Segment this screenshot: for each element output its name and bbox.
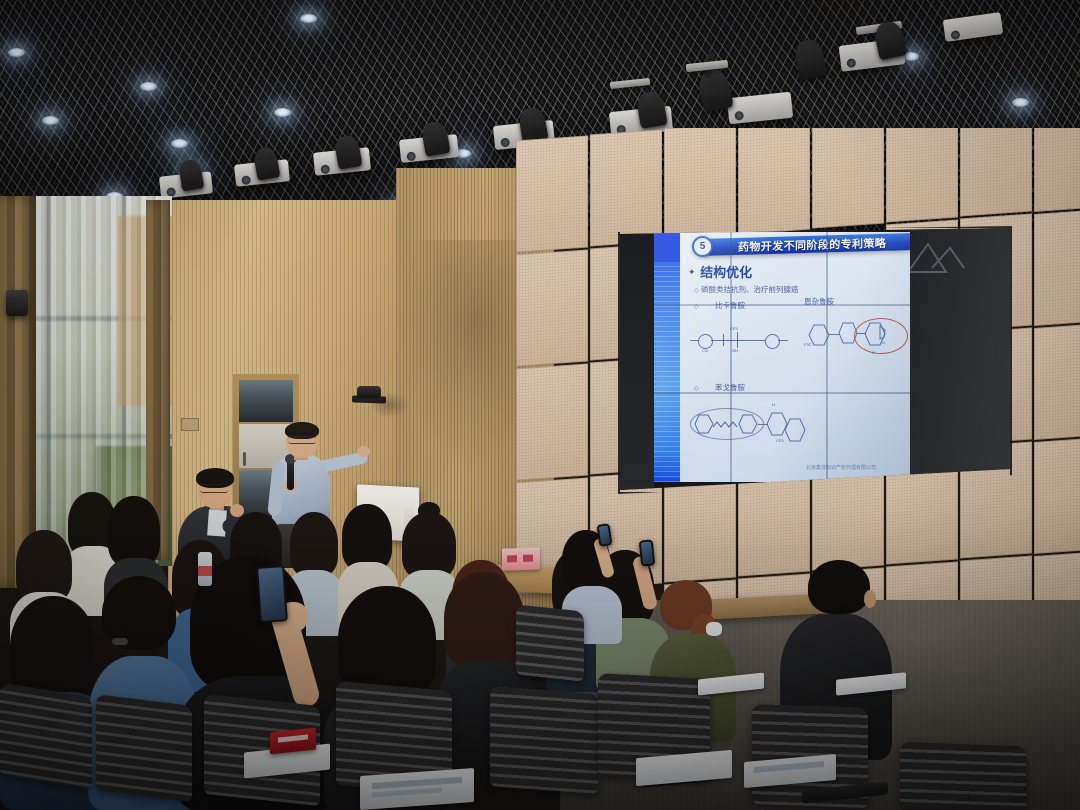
ceiling-spotlight [8,48,25,57]
projector-lens [950,30,960,40]
video-wall-bezel-left [620,228,654,490]
acoustic-panel [516,135,588,252]
acoustic-panel [516,363,588,480]
ceiling-spotlight [300,14,317,23]
wall-speaker-left [6,290,28,316]
projector-lens [846,58,856,68]
projector-lens [320,164,330,174]
acoustic-panel [812,128,884,229]
chem-label: H [772,402,775,407]
acoustic-panel [1034,210,1080,326]
video-wall-seam [654,304,910,306]
ceiling-spotlight [140,82,157,91]
slide-number-badge: 5 [692,236,713,257]
hair [342,504,392,570]
phone-screen [641,542,653,565]
attendee-suit-glasses-icon [200,484,228,493]
hair [808,560,870,614]
video-wall-seam [826,232,828,482]
bullet-diamond-icon: ◇ [694,287,699,294]
chair-backrest [0,683,92,790]
chair-backrest [900,742,1026,810]
heading-bullet-icon: ✦ [688,268,696,278]
highlight-ellipse-grey [690,408,764,440]
photo-scene: BOSE [0,0,1080,810]
door-glass-upper[interactable] [239,380,293,422]
projector-lens [406,151,416,161]
chair[interactable] [900,744,1030,810]
chem-label: O [872,350,875,355]
video-wall[interactable]: 药物开发不同阶段的专利策略 5 ✦ 结构优化 ◇ 磷酸类拮抗剂、治疗前列腺癌 ◇… [620,228,1010,490]
chair-backrest [490,686,598,794]
ceiling-spotlight [1012,98,1029,107]
benzene-ring [765,334,780,349]
slide-title-bar: 药物开发不同阶段的专利策略 [704,233,910,256]
acoustic-panel [1034,128,1080,212]
chem-label: OH [732,348,738,353]
water-bottle-label [198,566,212,576]
chem-bond [753,340,765,341]
chem-label: F3C [804,342,812,347]
slide-watermark: 北京集佳知识产权代理有限公司 [806,464,876,471]
microphone[interactable] [287,460,294,490]
chair[interactable] [0,690,96,810]
phone-screen [599,525,610,544]
presenter-hand [357,446,370,457]
acoustic-panel [664,128,736,241]
acoustic-panel [1034,324,1080,440]
slide-left-bar-top [654,232,680,262]
slide-bullet-1: ◇ 磷酸类拮抗剂、治疗前列腺癌 [694,284,799,295]
slide-title-text: 药物开发不同阶段的专利策略 [738,234,886,254]
acoustic-panel [590,129,662,246]
bullet-diamond-icon: ◇ [694,385,699,392]
chair[interactable] [516,608,588,692]
presenter-glasses-icon [288,436,316,444]
chem-label: CF3 [776,438,784,443]
door-handle[interactable] [243,452,246,466]
acoustic-panel [516,249,588,366]
chemical-structure-bottom: H CF3 [690,404,820,446]
chem-bond [737,340,753,341]
chemical-structure-enzalutamide: F3C N O [804,310,908,358]
slide-left-gradient-bar [654,232,680,482]
slide-heading: ✦ 结构优化 [688,262,752,281]
chair[interactable] [490,690,602,810]
chair-backrest [96,694,192,802]
hair [338,586,436,698]
ceiling-spotlight [42,116,59,125]
chem-bond [690,340,699,341]
wall-camera-shadow [370,392,410,418]
chem-bond [778,340,788,341]
projector-lens [734,111,744,121]
wall-switch-plate[interactable] [181,418,199,431]
chemical-structure-bicalutamide: CF3 CN OH [690,324,810,360]
hex-ring [784,418,806,447]
presentation-slide: 药物开发不同阶段的专利策略 5 ✦ 结构优化 ◇ 磷酸类拮抗剂、治疗前列腺癌 ◇… [654,232,910,482]
ceiling-spotlight [274,108,291,117]
video-wall-seam [730,232,732,482]
slide-bullet-1-text: 磷酸类拮抗剂、治疗前列腺癌 [701,285,799,294]
hair [108,496,160,566]
ceiling-spotlight [171,139,188,148]
chair[interactable] [598,676,714,810]
chem-label: CN [702,348,708,353]
smartphone[interactable] [256,565,288,623]
logo-watermark-ghost [902,238,976,282]
slide-heading-text: 结构优化 [700,266,752,281]
chem-bond [711,340,723,341]
benzene-ring [698,334,713,349]
phone-screen [258,567,286,621]
chem-label: N [882,340,885,345]
projector-lens [500,138,510,148]
name-card-text-line [523,555,533,562]
highlight-ellipse-red [854,318,908,354]
chair-backrest [516,604,584,681]
acoustic-panel [960,128,1032,217]
acoustic-panel [1034,438,1080,554]
projector-lens [241,175,251,185]
chair[interactable] [96,700,196,810]
ear [864,590,876,608]
smartphone[interactable] [639,539,656,566]
acoustic-panel [886,128,958,223]
hair [444,572,524,668]
acoustic-panel [738,128,810,235]
hair-tie [112,638,128,645]
video-wall-seam [654,392,910,394]
